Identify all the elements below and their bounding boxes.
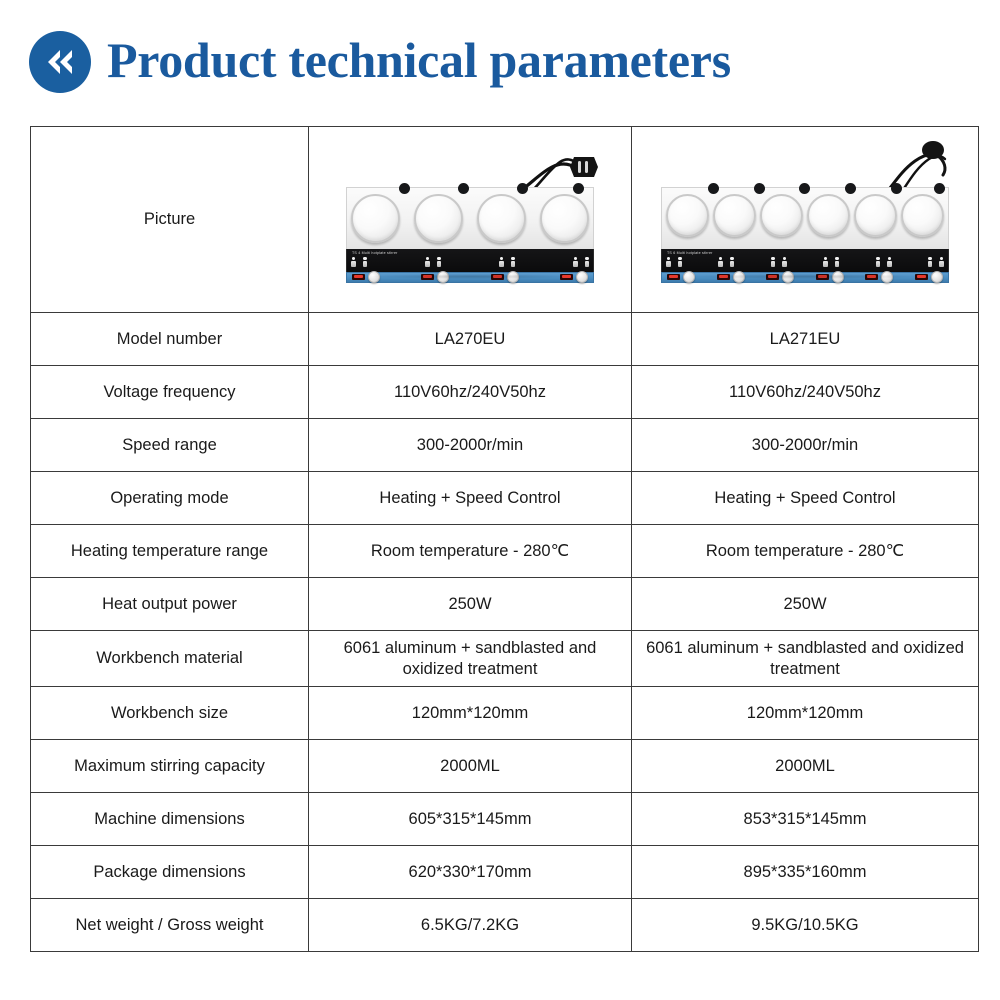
table-row: Heating temperature range Room temperatu… (31, 525, 979, 578)
specifications-table: Picture (30, 126, 979, 952)
table-row: Operating mode Heating + Speed Control H… (31, 472, 979, 525)
row-value-a: 620*330*170mm (309, 846, 632, 899)
stirrer-unit-4: TS 4 Multi hotplate stirrer (346, 187, 594, 283)
hotplate (477, 194, 526, 243)
row-value-a: 6.5KG/7.2KG (309, 899, 632, 952)
table-row: Machine dimensions 605*315*145mm 853*315… (31, 793, 979, 846)
double-chevron-left-icon (29, 31, 91, 93)
row-label: Model number (31, 313, 309, 366)
row-value-b: 6061 aluminum + sandblasted and oxidized… (632, 631, 979, 687)
row-label: Machine dimensions (31, 793, 309, 846)
row-value-a: Room temperature - 280℃ (309, 525, 632, 578)
row-value-b: 853*315*145mm (632, 793, 979, 846)
row-value-b: 2000ML (632, 740, 979, 793)
table-row: Speed range 300-2000r/min 300-2000r/min (31, 419, 979, 472)
row-value-a: 120mm*120mm (309, 687, 632, 740)
table-row: Workbench material 6061 aluminum + sandb… (31, 631, 979, 687)
row-value-b: Room temperature - 280℃ (632, 525, 979, 578)
row-value-a: Heating + Speed Control (309, 472, 632, 525)
control-panel: TS 4 Multi hotplate stirrer (346, 249, 594, 272)
row-value-a: 300-2000r/min (309, 419, 632, 472)
page-header: Product technical parameters (0, 0, 1000, 120)
row-value-a: 250W (309, 578, 632, 631)
row-label: Heat output power (31, 578, 309, 631)
hotplate (414, 194, 463, 243)
page-title: Product technical parameters (107, 35, 731, 85)
row-label: Voltage frequency (31, 366, 309, 419)
hotplate (540, 194, 589, 243)
table-row: Package dimensions 620*330*170mm 895*335… (31, 846, 979, 899)
table-row: Model number LA270EU LA271EU (31, 313, 979, 366)
row-label: Workbench size (31, 687, 309, 740)
row-value-b: 250W (632, 578, 979, 631)
control-panel: TS 6 Multi hotplate stirrer (661, 249, 949, 272)
hotplate (854, 194, 897, 237)
hotplate (901, 194, 944, 237)
row-label: Heating temperature range (31, 525, 309, 578)
row-value-a: 605*315*145mm (309, 793, 632, 846)
row-value-b: 120mm*120mm (632, 687, 979, 740)
table-row: Net weight / Gross weight 6.5KG/7.2KG 9.… (31, 899, 979, 952)
table-row: Maximum stirring capacity 2000ML 2000ML (31, 740, 979, 793)
row-value-b: 110V60hz/240V50hz (632, 366, 979, 419)
stirrer-unit-6: TS 6 Multi hotplate stirrer (661, 187, 949, 283)
row-value-a: 110V60hz/240V50hz (309, 366, 632, 419)
table-row-picture: Picture (31, 127, 979, 313)
row-value-a: 2000ML (309, 740, 632, 793)
table-row: Workbench size 120mm*120mm 120mm*120mm (31, 687, 979, 740)
row-label: Net weight / Gross weight (31, 899, 309, 952)
product-image-la271eu: TS 6 Multi hotplate stirrer (632, 127, 979, 313)
table-row: Heat output power 250W 250W (31, 578, 979, 631)
product-image-la270eu: TS 4 Multi hotplate stirrer (309, 127, 632, 313)
hotplate (351, 194, 400, 243)
row-value-a: 6061 aluminum + sandblasted and oxidized… (309, 631, 632, 687)
hotplate (666, 194, 709, 237)
row-value-b: 9.5KG/10.5KG (632, 899, 979, 952)
row-label-picture: Picture (31, 127, 309, 313)
row-value-b: 895*335*160mm (632, 846, 979, 899)
table-row: Voltage frequency 110V60hz/240V50hz 110V… (31, 366, 979, 419)
row-label: Workbench material (31, 631, 309, 687)
hotplate (713, 194, 756, 237)
row-value-a: LA270EU (309, 313, 632, 366)
panel-brand-text: TS 4 Multi hotplate stirrer (352, 251, 398, 255)
row-value-b: Heating + Speed Control (632, 472, 979, 525)
panel-brand-text: TS 6 Multi hotplate stirrer (667, 251, 713, 255)
row-label: Operating mode (31, 472, 309, 525)
row-label: Package dimensions (31, 846, 309, 899)
row-value-b: 300-2000r/min (632, 419, 979, 472)
hotplate (807, 194, 850, 237)
row-label: Speed range (31, 419, 309, 472)
row-value-b: LA271EU (632, 313, 979, 366)
row-label: Maximum stirring capacity (31, 740, 309, 793)
hotplate (760, 194, 803, 237)
